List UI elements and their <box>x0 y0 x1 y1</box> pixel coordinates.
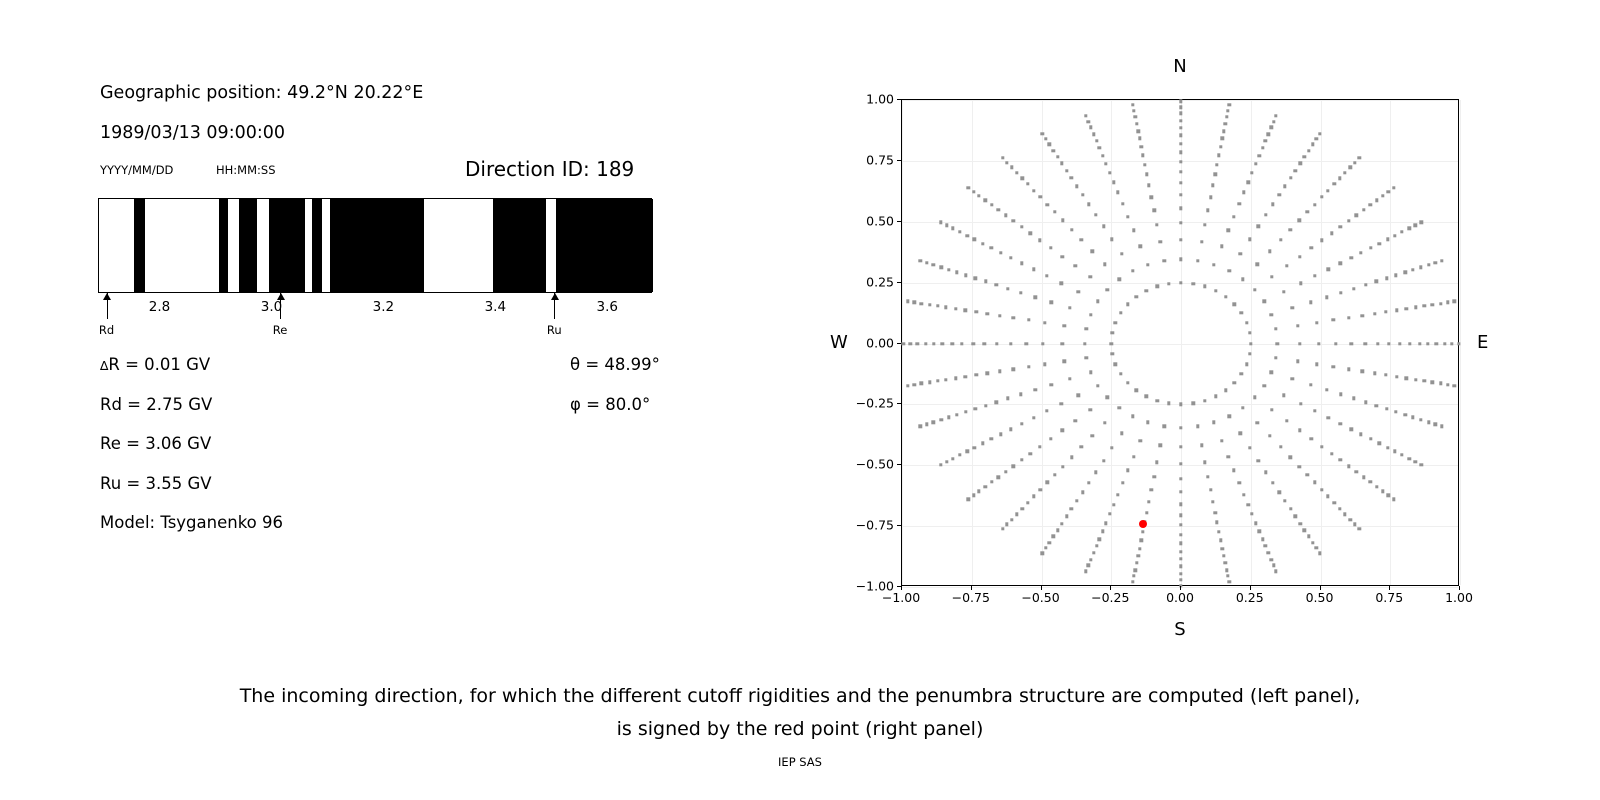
parameter-right-text: θ = 48.99° <box>570 355 660 374</box>
direction-point <box>1258 529 1261 532</box>
direction-point <box>1179 523 1182 526</box>
direction-point <box>977 194 980 197</box>
direction-point <box>1362 208 1365 211</box>
direction-point <box>1258 154 1261 157</box>
direction-point <box>1094 213 1097 216</box>
direction-point <box>1386 238 1389 241</box>
direction-point <box>1083 342 1086 345</box>
direction-point <box>1278 490 1281 493</box>
direction-grid-plot <box>901 99 1459 586</box>
direction-point <box>1203 285 1206 288</box>
direction-point <box>1146 421 1149 424</box>
direction-point <box>906 300 909 303</box>
direction-point <box>1271 203 1274 206</box>
direction-point <box>986 372 989 375</box>
direction-point <box>1313 203 1316 206</box>
direction-point <box>1077 290 1080 293</box>
direction-point <box>1147 500 1150 503</box>
x-axis-tick-label: −0.75 <box>952 590 990 605</box>
direction-point <box>1131 269 1134 272</box>
direction-point <box>1248 446 1251 449</box>
direction-point <box>1141 530 1144 533</box>
direction-point <box>1254 521 1257 524</box>
direction-point <box>981 242 984 245</box>
direction-point <box>1214 395 1217 398</box>
direction-point <box>1103 421 1106 424</box>
direction-point <box>990 480 993 483</box>
direction-point <box>1134 115 1137 118</box>
direction-point <box>973 238 976 241</box>
direction-point <box>1040 132 1043 135</box>
direction-point <box>1250 171 1253 174</box>
direction-point <box>1414 378 1417 381</box>
direction-point <box>1271 481 1274 484</box>
direction-point <box>1352 287 1355 290</box>
compass-label-south: S <box>1174 619 1185 640</box>
direction-point <box>1179 503 1182 506</box>
direction-point <box>1221 137 1224 140</box>
direction-point <box>1196 259 1199 262</box>
direction-point <box>1005 523 1008 526</box>
direction-point <box>1061 255 1064 258</box>
direction-point <box>1143 163 1146 166</box>
x-axis-tick-label: −0.50 <box>1021 590 1059 605</box>
parameter-left-text: Ru = 3.55 GV <box>100 474 212 493</box>
direction-point <box>936 304 939 307</box>
direction-point <box>1203 399 1206 402</box>
direction-point <box>1102 225 1105 228</box>
direction-point <box>1326 495 1329 498</box>
direction-point <box>994 283 997 286</box>
direction-point <box>1368 480 1371 483</box>
direction-point <box>1339 393 1342 396</box>
direction-point <box>1272 564 1275 567</box>
selected-direction-point[interactable] <box>1139 520 1147 528</box>
direction-point <box>1387 494 1390 497</box>
direction-point <box>1440 259 1443 262</box>
direction-point <box>1200 444 1203 447</box>
direction-point <box>1104 521 1107 524</box>
direction-point <box>1052 535 1055 538</box>
direction-point <box>1352 397 1355 400</box>
direction-point <box>1373 372 1376 375</box>
direction-point <box>1327 268 1330 271</box>
direction-point <box>1010 166 1013 169</box>
direction-point <box>1049 246 1052 249</box>
direction-point <box>913 301 916 304</box>
direction-point <box>984 280 987 283</box>
direction-point <box>1353 161 1356 164</box>
direction-point <box>1225 115 1228 118</box>
direction-point <box>1217 530 1220 533</box>
direction-point <box>965 450 968 453</box>
penumbra-forbidden-band <box>556 199 653 292</box>
direction-point <box>1214 289 1217 292</box>
date-format-hint: YYYY/MM/DD <box>100 163 173 177</box>
direction-point <box>1136 554 1139 557</box>
direction-point <box>1026 501 1029 504</box>
direction-point <box>990 203 993 206</box>
direction-point <box>1419 418 1422 421</box>
direction-point <box>945 224 948 227</box>
direction-point <box>1431 303 1434 306</box>
footer-credit: IEP SAS <box>0 755 1600 769</box>
direction-point <box>1226 574 1229 577</box>
parameter-block: ∆R = 0.01 GVθ = 48.99°Rd = 2.75 GVφ = 80… <box>100 355 700 553</box>
direction-point <box>1179 100 1182 103</box>
direction-point <box>1131 103 1134 106</box>
direction-point <box>1179 112 1182 115</box>
direction-point <box>1355 470 1358 473</box>
direction-point <box>955 413 958 416</box>
direction-point <box>1012 219 1015 222</box>
direction-point <box>1131 580 1134 583</box>
direction-point <box>990 246 993 249</box>
direction-point <box>1209 196 1212 199</box>
parameter-left-text: Model: Tsyganenko 96 <box>100 513 283 532</box>
y-axis-tick-label: −0.50 <box>838 457 894 472</box>
direction-point <box>1419 266 1422 269</box>
direction-point <box>1309 383 1312 386</box>
direction-point <box>939 418 942 421</box>
direction-point <box>1110 342 1113 345</box>
direction-point <box>1081 490 1084 493</box>
direction-point <box>1179 557 1182 560</box>
direction-point <box>1338 177 1341 180</box>
direction-point <box>1024 342 1027 345</box>
direction-point <box>1179 513 1182 516</box>
direction-point <box>1422 379 1425 382</box>
direction-point <box>1060 161 1063 164</box>
direction-point <box>1179 238 1182 241</box>
direction-point <box>981 442 984 445</box>
direction-point <box>1075 185 1078 188</box>
direction-point <box>1060 402 1063 405</box>
direction-point <box>928 380 931 383</box>
direction-point <box>986 312 989 315</box>
x-axis-tick-label: 0.50 <box>1306 590 1334 605</box>
direction-point <box>1418 342 1421 345</box>
direction-point <box>1119 311 1122 314</box>
direction-point <box>1108 512 1111 515</box>
direction-point <box>1369 246 1372 249</box>
direction-point <box>1440 425 1443 428</box>
direction-point <box>999 251 1002 254</box>
direction-point <box>1289 456 1292 459</box>
y-axis-tick-label: 0.50 <box>838 213 894 228</box>
direction-point <box>1087 481 1090 484</box>
direction-point <box>975 373 978 376</box>
direction-point <box>1179 151 1182 154</box>
direction-point <box>945 460 948 463</box>
direction-point <box>1279 238 1282 241</box>
direction-point <box>1343 171 1346 174</box>
direction-point <box>1050 383 1053 386</box>
direction-point <box>954 376 957 379</box>
direction-point <box>1248 237 1251 240</box>
direction-point <box>1375 280 1378 283</box>
direction-point <box>918 259 921 262</box>
direction-point <box>1095 139 1098 142</box>
direction-point <box>1020 261 1023 264</box>
parameter-row: ∆R = 0.01 GVθ = 48.99° <box>100 355 700 395</box>
direction-point <box>1353 523 1356 526</box>
direction-point <box>1147 184 1150 187</box>
direction-point <box>1005 161 1008 164</box>
direction-point <box>1061 342 1064 345</box>
direction-point <box>984 404 987 407</box>
direction-point <box>1311 143 1314 146</box>
direction-point <box>1298 255 1301 258</box>
direction-point <box>971 342 974 345</box>
direction-point <box>920 302 923 305</box>
direction-point <box>977 490 980 493</box>
parameter-left-text: ∆R = 0.01 GV <box>100 355 210 374</box>
cutoff-marker-arrow-ru <box>554 293 555 319</box>
direction-point <box>1070 228 1073 231</box>
direction-point <box>1020 225 1023 228</box>
direction-point <box>1029 452 1032 455</box>
y-axis-tick-label: −0.75 <box>838 518 894 533</box>
direction-point <box>1080 238 1083 241</box>
direction-point <box>1303 155 1306 158</box>
x-axis-tick-mark <box>901 586 902 590</box>
x-axis-tick-label: −0.25 <box>1091 590 1129 605</box>
direction-point <box>1315 363 1318 366</box>
direction-point <box>1126 215 1129 218</box>
direction-point <box>1224 295 1227 298</box>
direction-point <box>1318 132 1321 135</box>
direction-point <box>1120 431 1123 434</box>
direction-point <box>939 463 942 466</box>
x-axis-tick-mark <box>971 586 972 590</box>
direction-point <box>1092 132 1095 135</box>
y-axis-tick-label: 0.00 <box>838 335 894 350</box>
direction-point <box>1104 162 1107 165</box>
direction-point <box>1034 296 1037 299</box>
direction-point <box>999 433 1002 436</box>
direction-point <box>1039 488 1042 491</box>
direction-point <box>1434 423 1437 426</box>
direction-point <box>1138 137 1141 140</box>
x-axis-tick-mark <box>1250 586 1251 590</box>
penumbra-tick-label: 3.4 <box>485 299 506 315</box>
direction-point <box>1179 550 1182 553</box>
direction-point <box>1114 363 1117 366</box>
direction-point <box>1046 481 1049 484</box>
direction-point <box>1084 569 1087 572</box>
direction-point <box>1254 162 1257 165</box>
direction-point <box>1096 384 1099 387</box>
direction-point <box>1145 173 1148 176</box>
penumbra-spectrum-bar <box>98 198 652 293</box>
direction-point <box>1261 537 1264 540</box>
direction-point <box>1089 371 1092 374</box>
direction-point <box>973 276 976 279</box>
direction-point <box>1315 321 1318 324</box>
direction-point <box>1358 527 1361 530</box>
direction-point <box>1253 288 1256 291</box>
direction-point <box>1179 541 1182 544</box>
direction-point <box>1070 176 1073 179</box>
penumbra-forbidden-band <box>239 199 257 292</box>
direction-point <box>1038 445 1041 448</box>
direction-point <box>995 342 998 345</box>
direction-point <box>1117 277 1120 280</box>
direction-point <box>1140 538 1143 541</box>
direction-point <box>1242 191 1245 194</box>
direction-point <box>1245 321 1248 324</box>
direction-point <box>1332 318 1335 321</box>
direction-point <box>1318 552 1321 555</box>
direction-point <box>1081 193 1084 196</box>
direction-point <box>1044 546 1047 549</box>
direction-point <box>1299 522 1302 525</box>
direction-point <box>1434 261 1437 264</box>
direction-point <box>1224 561 1227 564</box>
direction-point <box>1006 287 1009 290</box>
direction-point <box>1213 173 1216 176</box>
direction-point <box>1179 445 1182 448</box>
direction-point <box>1311 541 1314 544</box>
direction-point <box>1203 460 1206 463</box>
direction-point <box>1096 300 1099 303</box>
direction-point <box>1045 274 1048 277</box>
direction-point <box>1227 269 1230 272</box>
direction-point <box>920 382 923 385</box>
direction-point <box>1394 274 1397 277</box>
direction-point <box>1206 475 1209 478</box>
direction-point <box>1263 384 1266 387</box>
direction-point <box>1439 302 1442 305</box>
direction-point <box>1400 453 1403 456</box>
direction-point <box>1333 501 1336 504</box>
direction-point <box>1063 360 1066 363</box>
direction-point <box>1179 281 1182 284</box>
direction-point <box>1032 268 1035 271</box>
direction-point <box>1282 394 1285 397</box>
direction-point <box>1032 416 1035 419</box>
direction-point <box>1392 186 1395 189</box>
direction-point <box>1315 137 1318 140</box>
direction-point <box>1009 256 1012 259</box>
direction-point <box>1080 445 1083 448</box>
direction-point <box>1267 551 1270 554</box>
direction-point <box>1411 416 1414 419</box>
direction-point <box>1068 306 1071 309</box>
direction-point <box>932 420 935 423</box>
direction-point <box>1150 196 1153 199</box>
direction-point <box>1264 544 1267 547</box>
direction-point <box>1209 488 1212 491</box>
direction-point <box>1386 446 1389 449</box>
direction-point <box>1038 238 1041 241</box>
direction-point <box>1291 306 1294 309</box>
direction-point <box>1435 342 1438 345</box>
direction-point <box>1167 282 1170 285</box>
penumbra-tick-label: 3.6 <box>596 299 617 315</box>
direction-point <box>1155 223 1158 226</box>
cutoff-marker-label-rd: Rd <box>99 323 114 337</box>
direction-point <box>1106 288 1109 291</box>
direction-point <box>1004 470 1007 473</box>
direction-point <box>1274 114 1277 117</box>
direction-point <box>1063 324 1066 327</box>
direction-point <box>1034 388 1037 391</box>
direction-point <box>1315 546 1318 549</box>
direction-point <box>973 446 976 449</box>
penumbra-forbidden-band <box>493 199 546 292</box>
penumbra-tick-label: 2.8 <box>149 299 170 315</box>
direction-point <box>1134 568 1137 571</box>
direction-point <box>1179 462 1182 465</box>
direction-point <box>1047 541 1050 544</box>
direction-point <box>1307 149 1310 152</box>
direction-point <box>1019 393 1022 396</box>
direction-point <box>1326 189 1329 192</box>
direction-point <box>1215 163 1218 166</box>
direction-point <box>1269 558 1272 561</box>
direction-point <box>1375 404 1378 407</box>
direction-point <box>1294 515 1297 518</box>
direction-point <box>1026 182 1029 185</box>
direction-point <box>1004 213 1007 216</box>
direction-point <box>1144 395 1147 398</box>
direction-point <box>1278 193 1281 196</box>
direction-point <box>954 307 957 310</box>
direction-point <box>1155 399 1158 402</box>
direction-point <box>1320 445 1323 448</box>
direction-point <box>1200 240 1203 243</box>
direction-point <box>1240 372 1243 375</box>
direction-point <box>1375 485 1378 488</box>
direction-point <box>1306 210 1309 213</box>
direction-point <box>1248 352 1251 355</box>
direction-point <box>1179 160 1182 163</box>
direction-point <box>1043 321 1046 324</box>
direction-point <box>1065 515 1068 518</box>
direction-point <box>1152 475 1155 478</box>
direction-point <box>1095 544 1098 547</box>
direction-point <box>1274 327 1277 330</box>
direction-point <box>998 370 1001 373</box>
x-axis-tick-label: 0.00 <box>1166 590 1194 605</box>
direction-point <box>1009 428 1012 431</box>
direction-point <box>1159 240 1162 243</box>
direction-point <box>1053 210 1056 213</box>
direction-point <box>1248 331 1251 334</box>
direction-point <box>984 199 987 202</box>
direction-point <box>958 453 961 456</box>
direction-point <box>1089 313 1092 316</box>
direction-point <box>1041 342 1044 345</box>
direction-point <box>1155 285 1158 288</box>
direction-point <box>1299 282 1302 285</box>
direction-point <box>1101 529 1104 532</box>
direction-point <box>1453 300 1456 303</box>
direction-point <box>1144 289 1147 292</box>
direction-point <box>1274 569 1277 572</box>
direction-point <box>1212 421 1215 424</box>
direction-point <box>1414 460 1417 463</box>
time-format-hint: HH:MM:SS <box>216 163 276 177</box>
direction-point <box>1046 203 1049 206</box>
direction-point <box>1134 295 1137 298</box>
direction-point <box>1270 408 1273 411</box>
direction-point <box>1299 161 1302 164</box>
direction-point <box>1414 224 1417 227</box>
direction-point <box>1408 227 1411 230</box>
